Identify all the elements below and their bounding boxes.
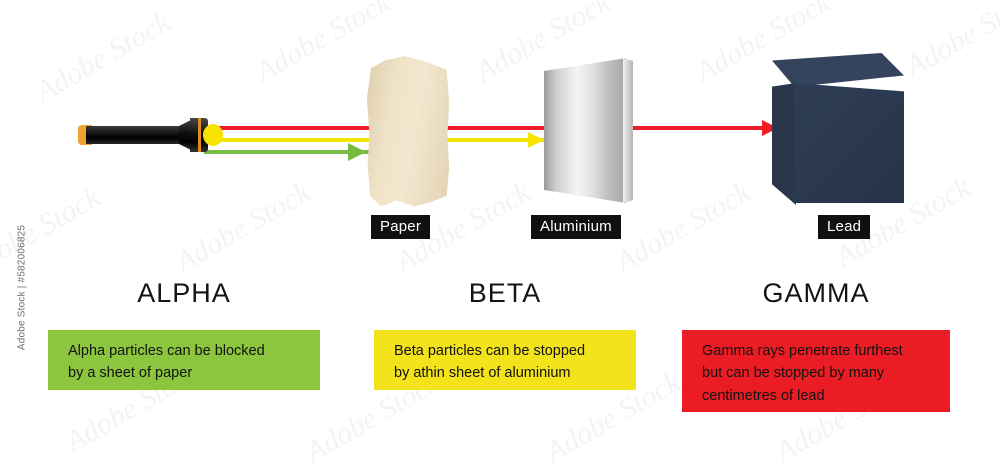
watermark-tile: Adobe Stock — [170, 175, 316, 279]
gamma-description-line: Gamma rays penetrate furthest — [702, 340, 936, 362]
gamma-description-line: centimetres of lead — [702, 385, 936, 407]
aluminium-label-chip: Aluminium — [531, 215, 621, 239]
paper-label-chip: Paper — [371, 215, 430, 239]
gamma-description-box: Gamma rays penetrate furthest but can be… — [682, 330, 950, 412]
diagram-canvas: Adobe Stock Adobe Stock Adobe Stock Adob… — [0, 0, 1000, 457]
gamma-description-line: but can be stopped by many — [702, 362, 936, 384]
beta-description-box: Beta particles can be stopped by athin s… — [374, 330, 636, 390]
beta-title: BETA — [374, 278, 636, 309]
watermark-tile: Adobe Stock — [0, 180, 106, 284]
watermark-tile: Adobe Stock — [30, 5, 176, 109]
lead-cube-left-face — [772, 83, 796, 205]
flashlight-barrel — [86, 126, 186, 144]
lead-cube-front-face — [794, 83, 904, 203]
flashlight-lens — [203, 124, 223, 146]
alpha-description-line: Alpha particles can be blocked — [68, 340, 306, 362]
aluminium-plate-face — [544, 58, 626, 203]
aluminium-barrier — [544, 58, 636, 203]
alpha-title: ALPHA — [48, 278, 320, 309]
alpha-description-line: by a sheet of paper — [68, 362, 306, 384]
lead-cube-top-face — [772, 53, 904, 87]
alpha-ray-line — [204, 150, 370, 154]
alpha-ray-arrowhead — [348, 143, 366, 161]
stock-id-watermark: Adobe Stock | #582006825 — [17, 203, 28, 373]
beta-description-line: Beta particles can be stopped — [394, 340, 622, 362]
lead-barrier — [772, 53, 904, 205]
lead-label-chip: Lead — [818, 215, 870, 239]
beta-description-line: by athin sheet of aluminium — [394, 362, 622, 384]
beta-ray-arrowhead — [528, 132, 544, 148]
watermark-tile: Adobe Stock — [900, 0, 1000, 84]
gamma-ray-line — [204, 126, 775, 130]
paper-sheet-shape — [366, 56, 450, 208]
flashlight-ring — [198, 118, 201, 152]
paper-barrier — [366, 56, 450, 208]
flashlight-source — [78, 116, 208, 154]
alpha-description-box: Alpha particles can be blocked by a shee… — [48, 330, 320, 390]
gamma-title: GAMMA — [682, 278, 950, 309]
aluminium-plate-edge — [623, 58, 633, 203]
